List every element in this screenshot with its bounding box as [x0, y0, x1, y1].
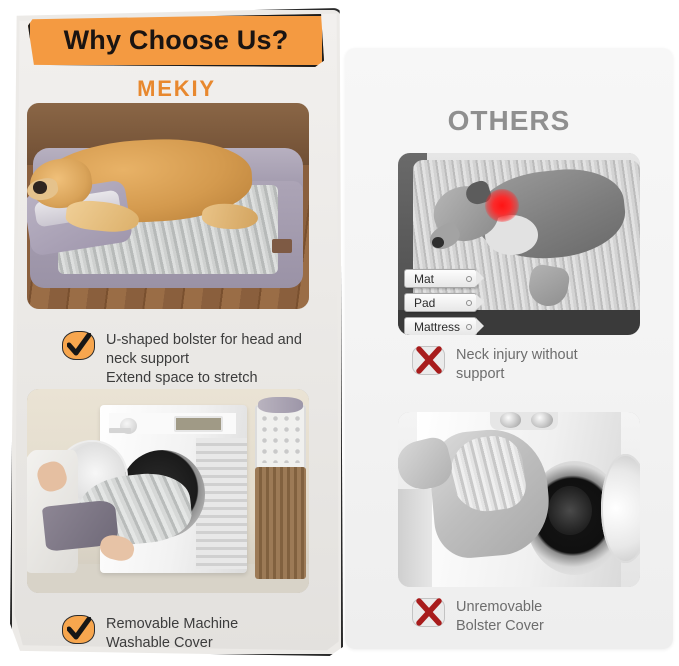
tag-mattress: Mattress [404, 317, 477, 335]
tag-label: Pad [414, 296, 435, 310]
comparison-infographic: OTHERS Mat Pad Mattress [0, 0, 679, 666]
tag-label: Mat [414, 272, 434, 286]
x-mark-glyph [414, 345, 444, 376]
golden-retriever-on-bolster-bed-photo [27, 103, 309, 309]
feature-line: Extend space to stretch [106, 369, 302, 388]
others-feature-neck-injury: Neck injury without support [412, 346, 578, 384]
tag-pad: Pad [404, 293, 477, 312]
mekiy-feature-washable-cover: Removable Machine Washable Cover [62, 615, 238, 653]
feature-line: neck support [106, 350, 302, 369]
hamper-perforations [259, 413, 302, 463]
machine-drum-inner [548, 486, 592, 535]
machine-knob-icon [500, 412, 522, 428]
feature-line: Unremovable [456, 598, 544, 617]
why-choose-us-banner: Why Choose Us? [28, 14, 324, 67]
feature-line: Bolster Cover [456, 617, 544, 636]
others-title: OTHERS [345, 105, 673, 137]
tag-label: Mattress [414, 320, 460, 334]
layer-tag-list: Mat Pad Mattress [404, 269, 477, 335]
machine-display [174, 416, 223, 432]
check-icon [62, 331, 95, 360]
x-icon [412, 346, 445, 375]
dog-nose [432, 237, 444, 248]
side-column [398, 489, 432, 587]
detergent-drawer [109, 428, 132, 433]
feature-line: Washable Cover [106, 634, 238, 653]
banner-title: Why Choose Us? [64, 27, 289, 54]
tag-dot-icon [466, 324, 472, 330]
x-icon [412, 598, 445, 627]
tag-mat: Mat [404, 269, 477, 288]
feature-text: Removable Machine Washable Cover [106, 615, 238, 653]
washing-machine-removable-cover-photo [27, 389, 309, 593]
wicker-basket [255, 467, 306, 579]
folded-towel [258, 397, 303, 413]
check-mark-glyph [67, 333, 91, 358]
x-mark-glyph [414, 597, 444, 628]
feature-line: Removable Machine [106, 615, 238, 634]
feature-line: Neck injury without [456, 346, 578, 365]
dog-neck-injury-grayscale-photo: Mat Pad Mattress [398, 153, 640, 335]
brand-tag [272, 239, 292, 253]
others-feature-unremovable-cover: Unremovable Bolster Cover [412, 598, 544, 636]
feature-text: Unremovable Bolster Cover [456, 598, 544, 636]
machine-knob-icon [531, 412, 553, 428]
neck-pain-indicator-icon [485, 189, 519, 222]
mekiy-feature-bolster-support: U-shaped bolster for head and neck suppo… [62, 331, 302, 388]
feature-text: U-shaped bolster for head and neck suppo… [106, 331, 302, 388]
laundry-hamper [255, 405, 306, 470]
unremovable-bolster-cover-grayscale-photo [398, 412, 640, 587]
feature-line: support [456, 365, 578, 384]
tag-dot-icon [466, 300, 472, 306]
brand-name: MEKIY [10, 76, 343, 102]
tag-dot-icon [466, 276, 472, 282]
check-icon [62, 615, 95, 644]
dog-nose [33, 181, 47, 193]
feature-line: U-shaped bolster for head and [106, 331, 302, 350]
feature-text: Neck injury without support [456, 346, 578, 384]
machine-door [601, 454, 640, 563]
check-mark-glyph [67, 617, 91, 642]
